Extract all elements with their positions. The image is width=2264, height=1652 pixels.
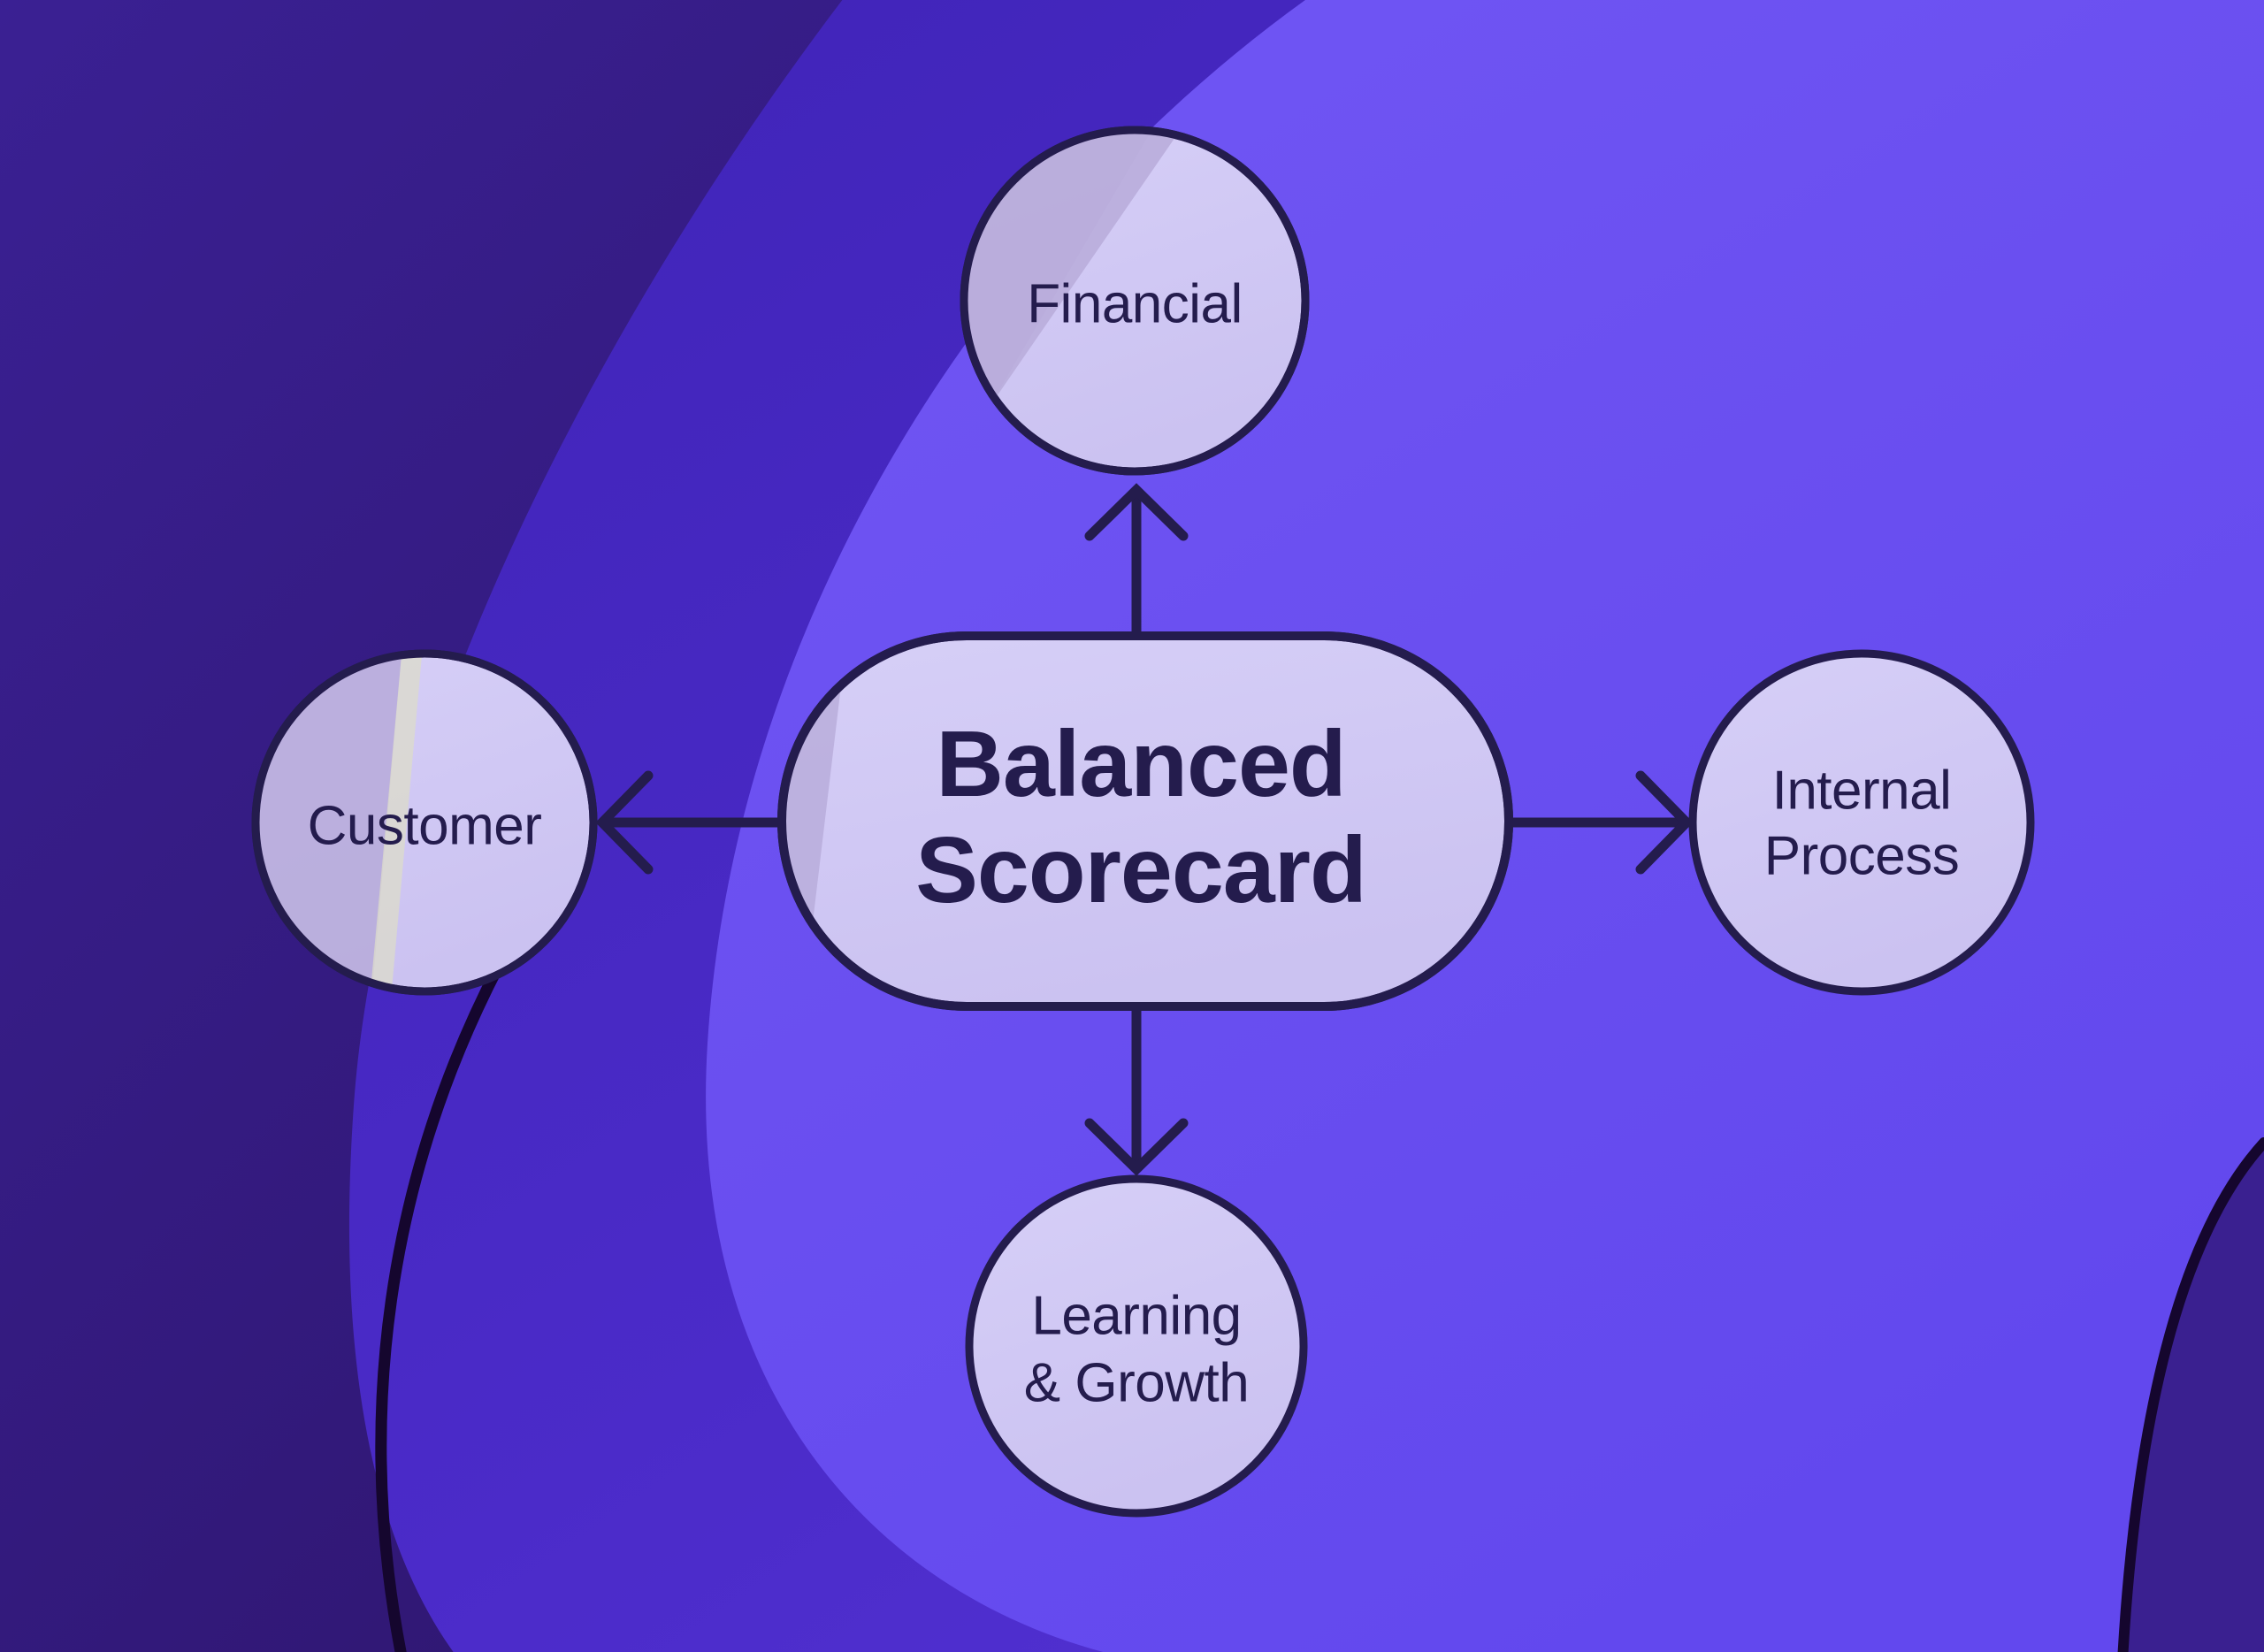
node-internal-process-label-line1: Internal (1772, 760, 1952, 821)
node-customer-label: Customer (308, 795, 542, 856)
node-financial-label: Financial (1027, 273, 1243, 334)
node-learning-growth[interactable]: Learning & Growth (969, 1179, 1304, 1513)
diagram-canvas: Financial Customer Internal Process Lear… (0, 0, 2264, 1652)
balanced-scorecard-diagram: Financial Customer Internal Process Lear… (0, 0, 2264, 1652)
node-internal-process-shape (1693, 654, 2031, 991)
node-learning-growth-label-line2: & Growth (1024, 1352, 1249, 1413)
node-learning-growth-label-line1: Learning (1031, 1285, 1241, 1346)
node-balanced-scorecard[interactable]: Balanced Scorecard (761, 619, 1509, 1026)
node-balanced-scorecard-label-line2: Scorecard (915, 818, 1366, 922)
node-balanced-scorecard-label-line1: Balanced (936, 712, 1345, 816)
node-internal-process-label-line2: Process (1764, 825, 1959, 886)
node-internal-process[interactable]: Internal Process (1693, 654, 2031, 991)
